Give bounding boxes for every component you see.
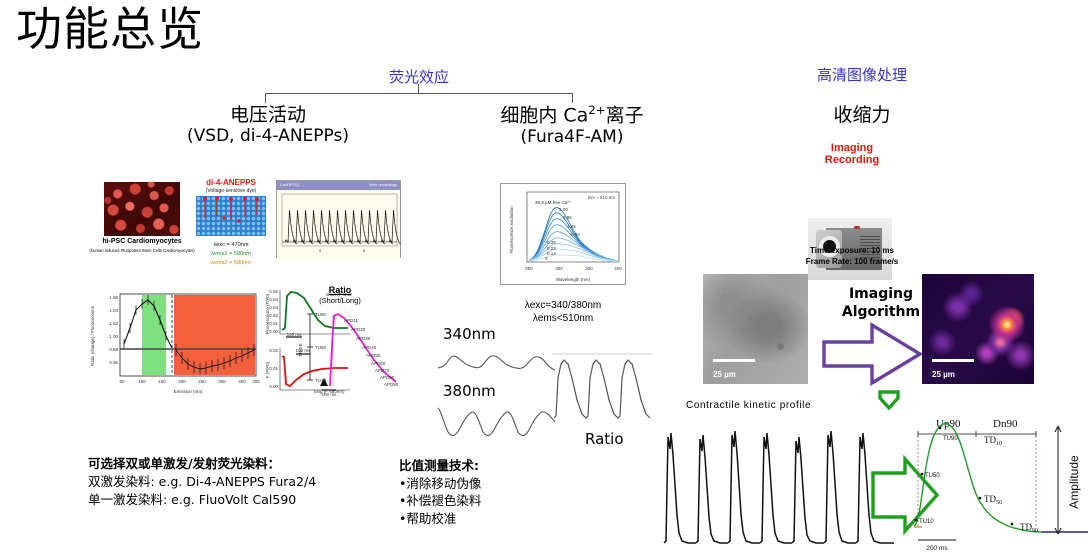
time-exposure-label: Time exposure: 10 ms	[762, 246, 942, 256]
svg-text:5.00: 5.00	[559, 207, 568, 212]
svg-text:1.00: 1.00	[109, 334, 118, 339]
svg-text:APD80: APD80	[380, 375, 395, 380]
spectrum-ylabel: Fluorescence excitation	[509, 206, 514, 254]
ratio-trace-panel: TU90TU50TU10 TRISE APD11APD20APD30 APD40…	[296, 306, 404, 396]
svg-text:200: 200	[178, 379, 186, 384]
svg-text:400: 400	[614, 266, 622, 271]
svg-text:F (F/F0): F (F/F0)	[265, 361, 270, 378]
heading-calcium-pre: 细胞内 Ca	[500, 104, 588, 126]
svg-text:0.96: 0.96	[109, 360, 118, 365]
svg-text:50: 50	[119, 379, 125, 384]
spectrum-xlabel: Wavelength (nm)	[556, 277, 591, 282]
svg-text:APD90: APD90	[384, 382, 399, 387]
svg-text:s: s	[319, 248, 322, 253]
recording-header-right: View recordings	[369, 182, 397, 187]
svg-text:400: 400	[252, 379, 260, 384]
trace-340-label: 340nm	[443, 325, 496, 343]
svg-text:0.04: 0.04	[269, 297, 278, 302]
svg-text:APD40: APD40	[362, 345, 377, 350]
svg-text:0.35: 0.35	[547, 240, 556, 245]
svg-text:0.02: 0.02	[269, 348, 278, 353]
heading-calcium-post: 离子	[606, 104, 644, 126]
bottom-mid-bullet-2: •补偿褪色染料	[399, 492, 599, 510]
heading-calcium: 细胞内 Ca2+离子	[442, 104, 702, 127]
svg-text:0.05: 0.05	[269, 289, 278, 294]
algorithm-line1: Imaging	[826, 286, 936, 302]
annot-td10: TD10	[984, 435, 1002, 447]
svg-text:1.02: 1.02	[109, 321, 118, 326]
subheading-calcium: (Fura4F-AM)	[442, 127, 702, 147]
bracket-span	[265, 93, 573, 103]
lambda-exc-label: λexc = 470nm	[192, 242, 270, 248]
trace-ratio-label: Ratio	[585, 430, 624, 448]
svg-text:TRISE: TRISE	[298, 343, 303, 356]
green-arrow-down-icon	[876, 390, 902, 410]
scale-left-label: 25 µm	[713, 370, 736, 379]
calcium-lambda-ems: λems<510nm	[495, 313, 631, 324]
svg-text:250: 250	[198, 379, 206, 384]
svg-text:APD11: APD11	[344, 318, 358, 323]
calcium-380-trace	[436, 402, 556, 442]
svg-text:100: 100	[138, 379, 146, 384]
heading-voltage: 电压活动	[148, 104, 388, 126]
bottom-mid-title: 比值测量技术:	[399, 457, 599, 475]
svg-text:150: 150	[158, 379, 166, 384]
heatmap-image: 25 µm	[922, 274, 1034, 384]
page-title: 功能总览	[16, 4, 204, 55]
cardiomyocyte-micrograph	[104, 182, 180, 236]
svg-text:1.06: 1.06	[109, 295, 118, 300]
label-hd-image-processing: 高清图像处理	[782, 64, 942, 85]
annot-tu50: TU50	[925, 473, 940, 479]
purple-arrow-icon	[820, 320, 926, 388]
svg-text:APD70: APD70	[375, 368, 390, 373]
spectrum-series-note: 39.8 µM free Ca²⁺	[535, 200, 572, 205]
micrograph-caption: hi-PSC Cardiomyocytes	[92, 238, 192, 247]
svg-text:0.03: 0.03	[269, 305, 278, 310]
svg-text:APD60: APD60	[371, 361, 386, 366]
svg-text:TU50: TU50	[315, 345, 327, 350]
svg-text:1.35: 1.35	[567, 224, 576, 229]
ratio-subtitle: (Short/Long)	[300, 296, 380, 305]
membrane-diagram	[196, 196, 266, 236]
svg-text:0.02: 0.02	[269, 313, 278, 318]
amplitude-label: Amplitude	[1067, 455, 1081, 509]
bottom-left-line1: 双激发染料: e.g. Di-4-ANEPPS Fura2/4	[88, 473, 418, 491]
svg-text:APD30: APD30	[356, 336, 371, 341]
svg-text:TU90: TU90	[315, 312, 327, 317]
svg-text:0.60: 0.60	[571, 232, 580, 237]
annot-tu10: TU10	[919, 519, 934, 525]
phase-contrast-image: 25 µm	[703, 274, 808, 384]
lambda-ems2-label: λems2 = 580nm	[192, 260, 270, 266]
imaging-recording-line2: Recording	[772, 154, 932, 167]
bottom-mid-bullet-3: •帮助校准	[399, 510, 599, 528]
scale-bar-label: 200 ms	[926, 545, 948, 552]
svg-text:0.00: 0.00	[269, 384, 278, 389]
dye-subtitle-label: (Voltage-sensitive dye)	[192, 188, 270, 194]
dose-chart-xlabel: Emission (nm)	[174, 389, 203, 394]
scale-right-label: 25 µm	[932, 370, 955, 379]
dose-chart-ylabel: Ratio (change) / Fluorescence	[90, 305, 95, 366]
fura-spectrum-chart: Em = 510 nm 39.8 µM free Ca²⁺ 5.002.85 1…	[500, 183, 626, 285]
frame-rate-label: Frame Rate: 100 frame/s	[762, 257, 942, 267]
annot-td50: TD50	[984, 494, 1002, 506]
bottom-left-title: 可选择双或单激发/发射荧光染料：	[88, 455, 418, 473]
dose-response-chart: 1.061.041.02 1.000.980.96 50100150 20025…	[84, 286, 264, 398]
recording-header-left: CellOPTIQ ...	[280, 182, 304, 187]
bottom-left-line2: 单一激发染料: e.g. FluoVolt Cal590	[88, 491, 418, 509]
lambda-ems1-label: λems1 = 580nm	[192, 251, 270, 257]
calcium-lambda-exc: λexc=340/380nm	[495, 300, 631, 311]
spectrum-corner-note: Em = 510 nm	[588, 195, 615, 200]
calcium-340-trace	[436, 348, 556, 376]
svg-text:350: 350	[585, 266, 593, 271]
annot-tu90: TU90	[943, 436, 958, 442]
micrograph-subcaption: (human induced Pluripotent Stem Cells Ca…	[88, 248, 196, 253]
heading-contract: 收缩力	[792, 104, 932, 126]
svg-text:250: 250	[525, 266, 533, 271]
svg-text:1.04: 1.04	[109, 308, 118, 313]
heading-calcium-sup: 2+	[588, 103, 605, 117]
svg-text:2.85: 2.85	[563, 215, 572, 220]
contractile-train-chart	[658, 415, 898, 553]
svg-text:300: 300	[218, 379, 226, 384]
subheading-voltage: (VSD, di-4-ANEPPs)	[148, 126, 388, 146]
svg-text:0.01: 0.01	[269, 366, 278, 371]
calcium-ratio-trace	[552, 348, 652, 426]
svg-text:APD20: APD20	[351, 327, 366, 332]
svg-text:0.00: 0.00	[269, 329, 278, 334]
dye-name-label: di-4-ANEPPS	[192, 178, 270, 187]
recording-panel-header: CellOPTIQ ... View recordings	[277, 181, 400, 190]
recording-trace-panel: CellOPTIQ ... View recordings	[276, 180, 401, 258]
svg-text:0.98: 0.98	[109, 347, 118, 352]
svg-text:0.14: 0.14	[547, 251, 556, 256]
svg-text:300: 300	[555, 266, 563, 271]
trace-380-label: 380nm	[443, 382, 496, 400]
ratio-scale-label: 100 ms	[322, 392, 338, 396]
annot-td90: TD90	[1020, 522, 1038, 534]
svg-text:APD50: APD50	[366, 353, 381, 358]
bottom-mid-bullet-1: •消除移动伪像	[399, 475, 599, 493]
svg-text:s: s	[363, 248, 366, 253]
svg-text:Fluorescence (F/F0): Fluorescence (F/F0)	[265, 293, 270, 334]
phase-down-label: Dn90	[993, 418, 1018, 430]
ratio-title: Ratio	[300, 285, 380, 295]
contractile-chart-title: Contractile kinetic profile	[686, 400, 811, 411]
single-beat-chart: Up90 Dn90 TU90 TU50 TU10 TD10 TD5	[900, 410, 1089, 557]
algorithm-line2: Algorithm	[826, 304, 936, 320]
svg-text:350: 350	[238, 379, 246, 384]
svg-text:0.01: 0.01	[269, 321, 278, 326]
